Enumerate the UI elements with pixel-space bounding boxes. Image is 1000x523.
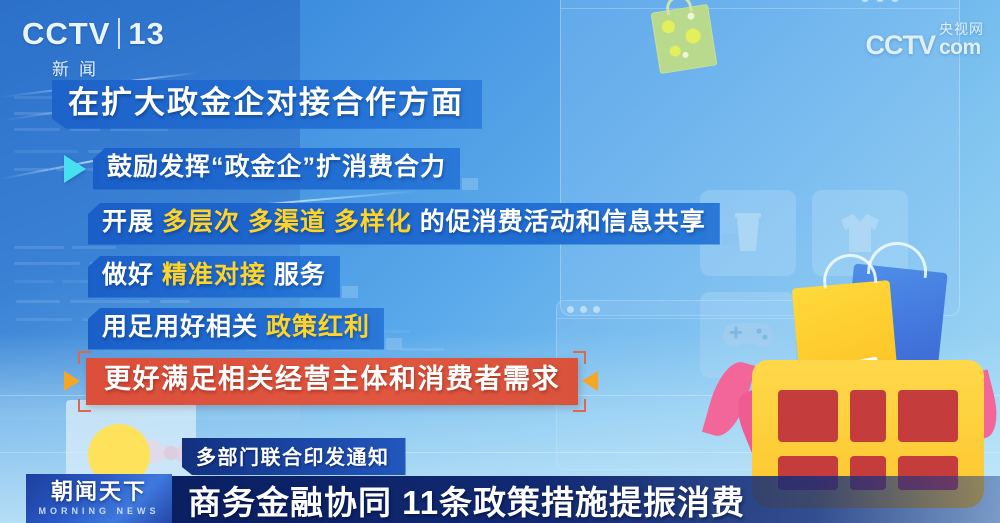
- window-dot-icon: [876, 0, 884, 2]
- bag-handle-icon: [664, 0, 692, 15]
- program-logo: 朝闻天下 MORNING NEWS: [26, 474, 172, 523]
- bullet-highlight-text: 精准对接: [162, 261, 266, 289]
- browser-titlebar-secondary: [557, 301, 805, 319]
- bag-handle-icon: [867, 240, 929, 278]
- background-data-line: [16, 318, 72, 321]
- bullet-chip: 做好 精准对接 服务: [88, 256, 340, 298]
- section-title-banner: 在扩大政金企对接合作方面: [52, 80, 482, 129]
- browser-titlebar: [561, 0, 959, 9]
- bullet-row-2: 开展 多层次 多渠道 多样化 的促消费活动和信息共享: [88, 203, 738, 245]
- bullet-text: 做好 精准对接 服务: [102, 261, 326, 289]
- corner-bracket-bottom-left: [78, 399, 91, 412]
- background-data-line: [160, 300, 190, 303]
- channel-logo-number: 13: [118, 18, 164, 49]
- program-name-en: MORNING NEWS: [39, 506, 160, 516]
- bullet-plain-text: 鼓励发挥“政金企”扩消费合力: [107, 153, 446, 181]
- shirt-icon: [837, 212, 883, 254]
- window-dot-icon: [891, 0, 899, 2]
- gamepad-icon: [723, 319, 773, 351]
- bullet-text: 鼓励发挥“政金企”扩消费合力: [107, 153, 446, 181]
- bullet-highlight-text: 政策红利: [266, 313, 370, 341]
- bullet-row-4: 用足用好相关 政策红利: [88, 308, 402, 350]
- bullet-text: 开展 多层次 多渠道 多样化 的促消费活动和信息共享: [102, 208, 706, 236]
- watermark-com-text: com: [939, 37, 984, 59]
- section-title-text: 在扩大政金企对接合作方面: [68, 86, 464, 121]
- channel-logo: CCTV 13 新闻: [22, 18, 165, 80]
- watermark-right: 央视网 com: [939, 22, 984, 59]
- background-data-line: [72, 246, 116, 249]
- bullet-text: 用足用好相关 政策红利: [102, 313, 370, 341]
- emphasis-row: 更好满足相关经营主体和消费者需求: [62, 358, 578, 405]
- kicker-text: 多部门联合印发通知: [196, 441, 390, 470]
- bullet-chip: 鼓励发挥“政金企”扩消费合力: [93, 148, 460, 190]
- channel-logo-subtitle: 新闻: [52, 55, 165, 80]
- chip-tail-decoration: [462, 178, 478, 190]
- chip-tail-decoration: [342, 286, 358, 298]
- background-data-line: [400, 348, 444, 351]
- bullet-row-1: 鼓励发挥“政金企”扩消费合力: [64, 148, 478, 190]
- lower-third-kicker: 多部门联合印发通知: [182, 438, 406, 475]
- bullet-plain-text: 开展: [102, 208, 162, 236]
- window-dot-icon: [567, 306, 574, 313]
- background-data-line: [14, 128, 60, 131]
- chip-tail-decoration: [722, 233, 738, 245]
- corner-bracket-bottom-right: [573, 399, 586, 412]
- play-triangle-icon: [64, 155, 86, 183]
- bullet-row-3: 做好 精准对接 服务: [88, 256, 358, 298]
- watermark-cctv-text: CCTV: [866, 32, 936, 59]
- program-name-cn: 朝闻天下: [51, 481, 147, 503]
- bullet-chip: 开展 多层次 多渠道 多样化 的促消费活动和信息共享: [88, 203, 720, 245]
- headline-text: 商务金融协同 11条政策措施提振消费: [188, 476, 745, 523]
- background-data-line: [70, 300, 150, 303]
- arrow-right-icon: [64, 371, 80, 391]
- bullet-plain-text: 用足用好相关: [102, 313, 266, 341]
- bullet-plain-text: 的促消费活动和信息共享: [412, 208, 706, 236]
- emphasis-text: 更好满足相关经营主体和消费者需求: [104, 364, 560, 396]
- bullet-highlight-text: 多层次 多渠道 多样化: [162, 208, 412, 236]
- chip-tail-decoration: [386, 338, 402, 350]
- arrow-left-icon: [582, 371, 598, 391]
- background-data-line: [14, 262, 80, 265]
- corner-bracket-top-right: [573, 351, 586, 364]
- window-dot-icon: [861, 0, 869, 2]
- corner-bracket-top-left: [78, 351, 91, 364]
- bullet-plain-text: 服务: [266, 261, 326, 289]
- lower-third-headline: 商务金融协同 11条政策措施提振消费: [168, 476, 1000, 523]
- bullet-chip: 用足用好相关 政策红利: [88, 308, 384, 350]
- bullet-plain-text: 做好: [102, 261, 162, 289]
- emphasis-box: 更好满足相关经营主体和消费者需求: [86, 358, 578, 405]
- cctv-watermark: CCTV 央视网 com: [866, 22, 985, 59]
- watermark-cn-text: 央视网: [939, 22, 984, 37]
- window-dot-icon: [580, 306, 587, 313]
- window-dot-icon: [593, 306, 600, 313]
- background-data-line: [16, 300, 60, 303]
- background-data-line: [14, 280, 54, 283]
- background-data-line: [14, 246, 64, 249]
- broadcast-screen: CCTV 13 新闻 CCTV 央视网 com 在扩大政金企对接合作方面 鼓励发…: [0, 0, 1000, 523]
- bag-handle-icon: [820, 251, 877, 288]
- channel-logo-main: CCTV 13: [22, 18, 165, 49]
- green-shopping-bag-decoration: [651, 4, 718, 74]
- channel-logo-text: CCTV: [22, 18, 110, 49]
